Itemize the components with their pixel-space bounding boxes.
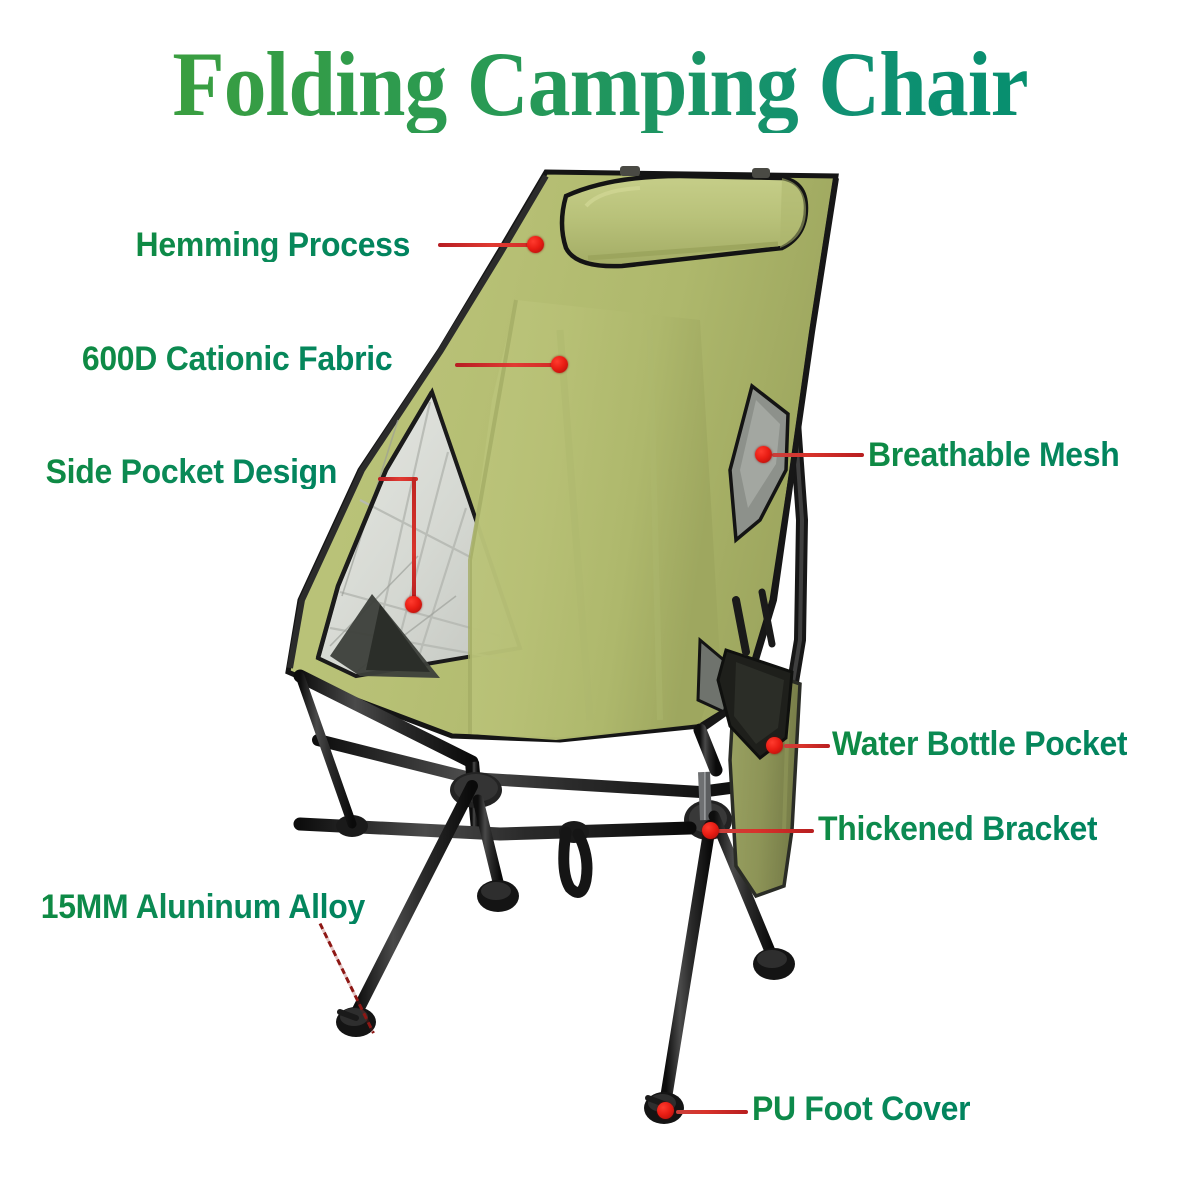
infographic-canvas: Folding Camping Chair — [0, 0, 1200, 1200]
leader-dot-cationic-fabric — [551, 356, 568, 373]
callout-label-aluninum-alloy: 15MM Aluninum Alloy — [41, 890, 365, 924]
callout-label-pu-foot-cover: PU Foot Cover — [752, 1092, 970, 1126]
callout-label-water-bottle-pocket: Water Bottle Pocket — [832, 727, 1127, 761]
page-title: Folding Camping Chair — [42, 36, 1158, 133]
leader-line-side-pocket-design-vertical — [412, 477, 416, 603]
leader-line-cationic-fabric — [455, 363, 563, 367]
leader-dot-breathable-mesh — [755, 446, 772, 463]
callout-label-thickened-bracket: Thickened Bracket — [818, 812, 1097, 846]
callout-label-cationic-fabric: 600D Cationic Fabric — [82, 342, 393, 376]
product-illustration — [0, 0, 1200, 1200]
leader-line-breathable-mesh — [772, 453, 864, 457]
leader-line-pu-foot-cover — [676, 1110, 748, 1114]
leader-line-aluninum-alloy — [319, 923, 375, 1034]
callout-label-breathable-mesh: Breathable Mesh — [868, 438, 1120, 472]
leader-line-thickened-bracket — [718, 829, 814, 833]
leader-dot-pu-foot-cover — [657, 1102, 674, 1119]
leader-line-hemming-process — [438, 243, 536, 247]
leader-dot-hemming-process — [527, 236, 544, 253]
chair-svg — [0, 0, 1200, 1200]
leader-dot-side-pocket-design — [405, 596, 422, 613]
leader-dot-water-bottle-pocket — [766, 737, 783, 754]
callout-label-hemming-process: Hemming Process — [136, 228, 411, 262]
callout-label-side-pocket-design: Side Pocket Design — [46, 455, 338, 489]
leader-dot-thickened-bracket — [702, 822, 719, 839]
leader-line-water-bottle-pocket — [784, 744, 830, 748]
